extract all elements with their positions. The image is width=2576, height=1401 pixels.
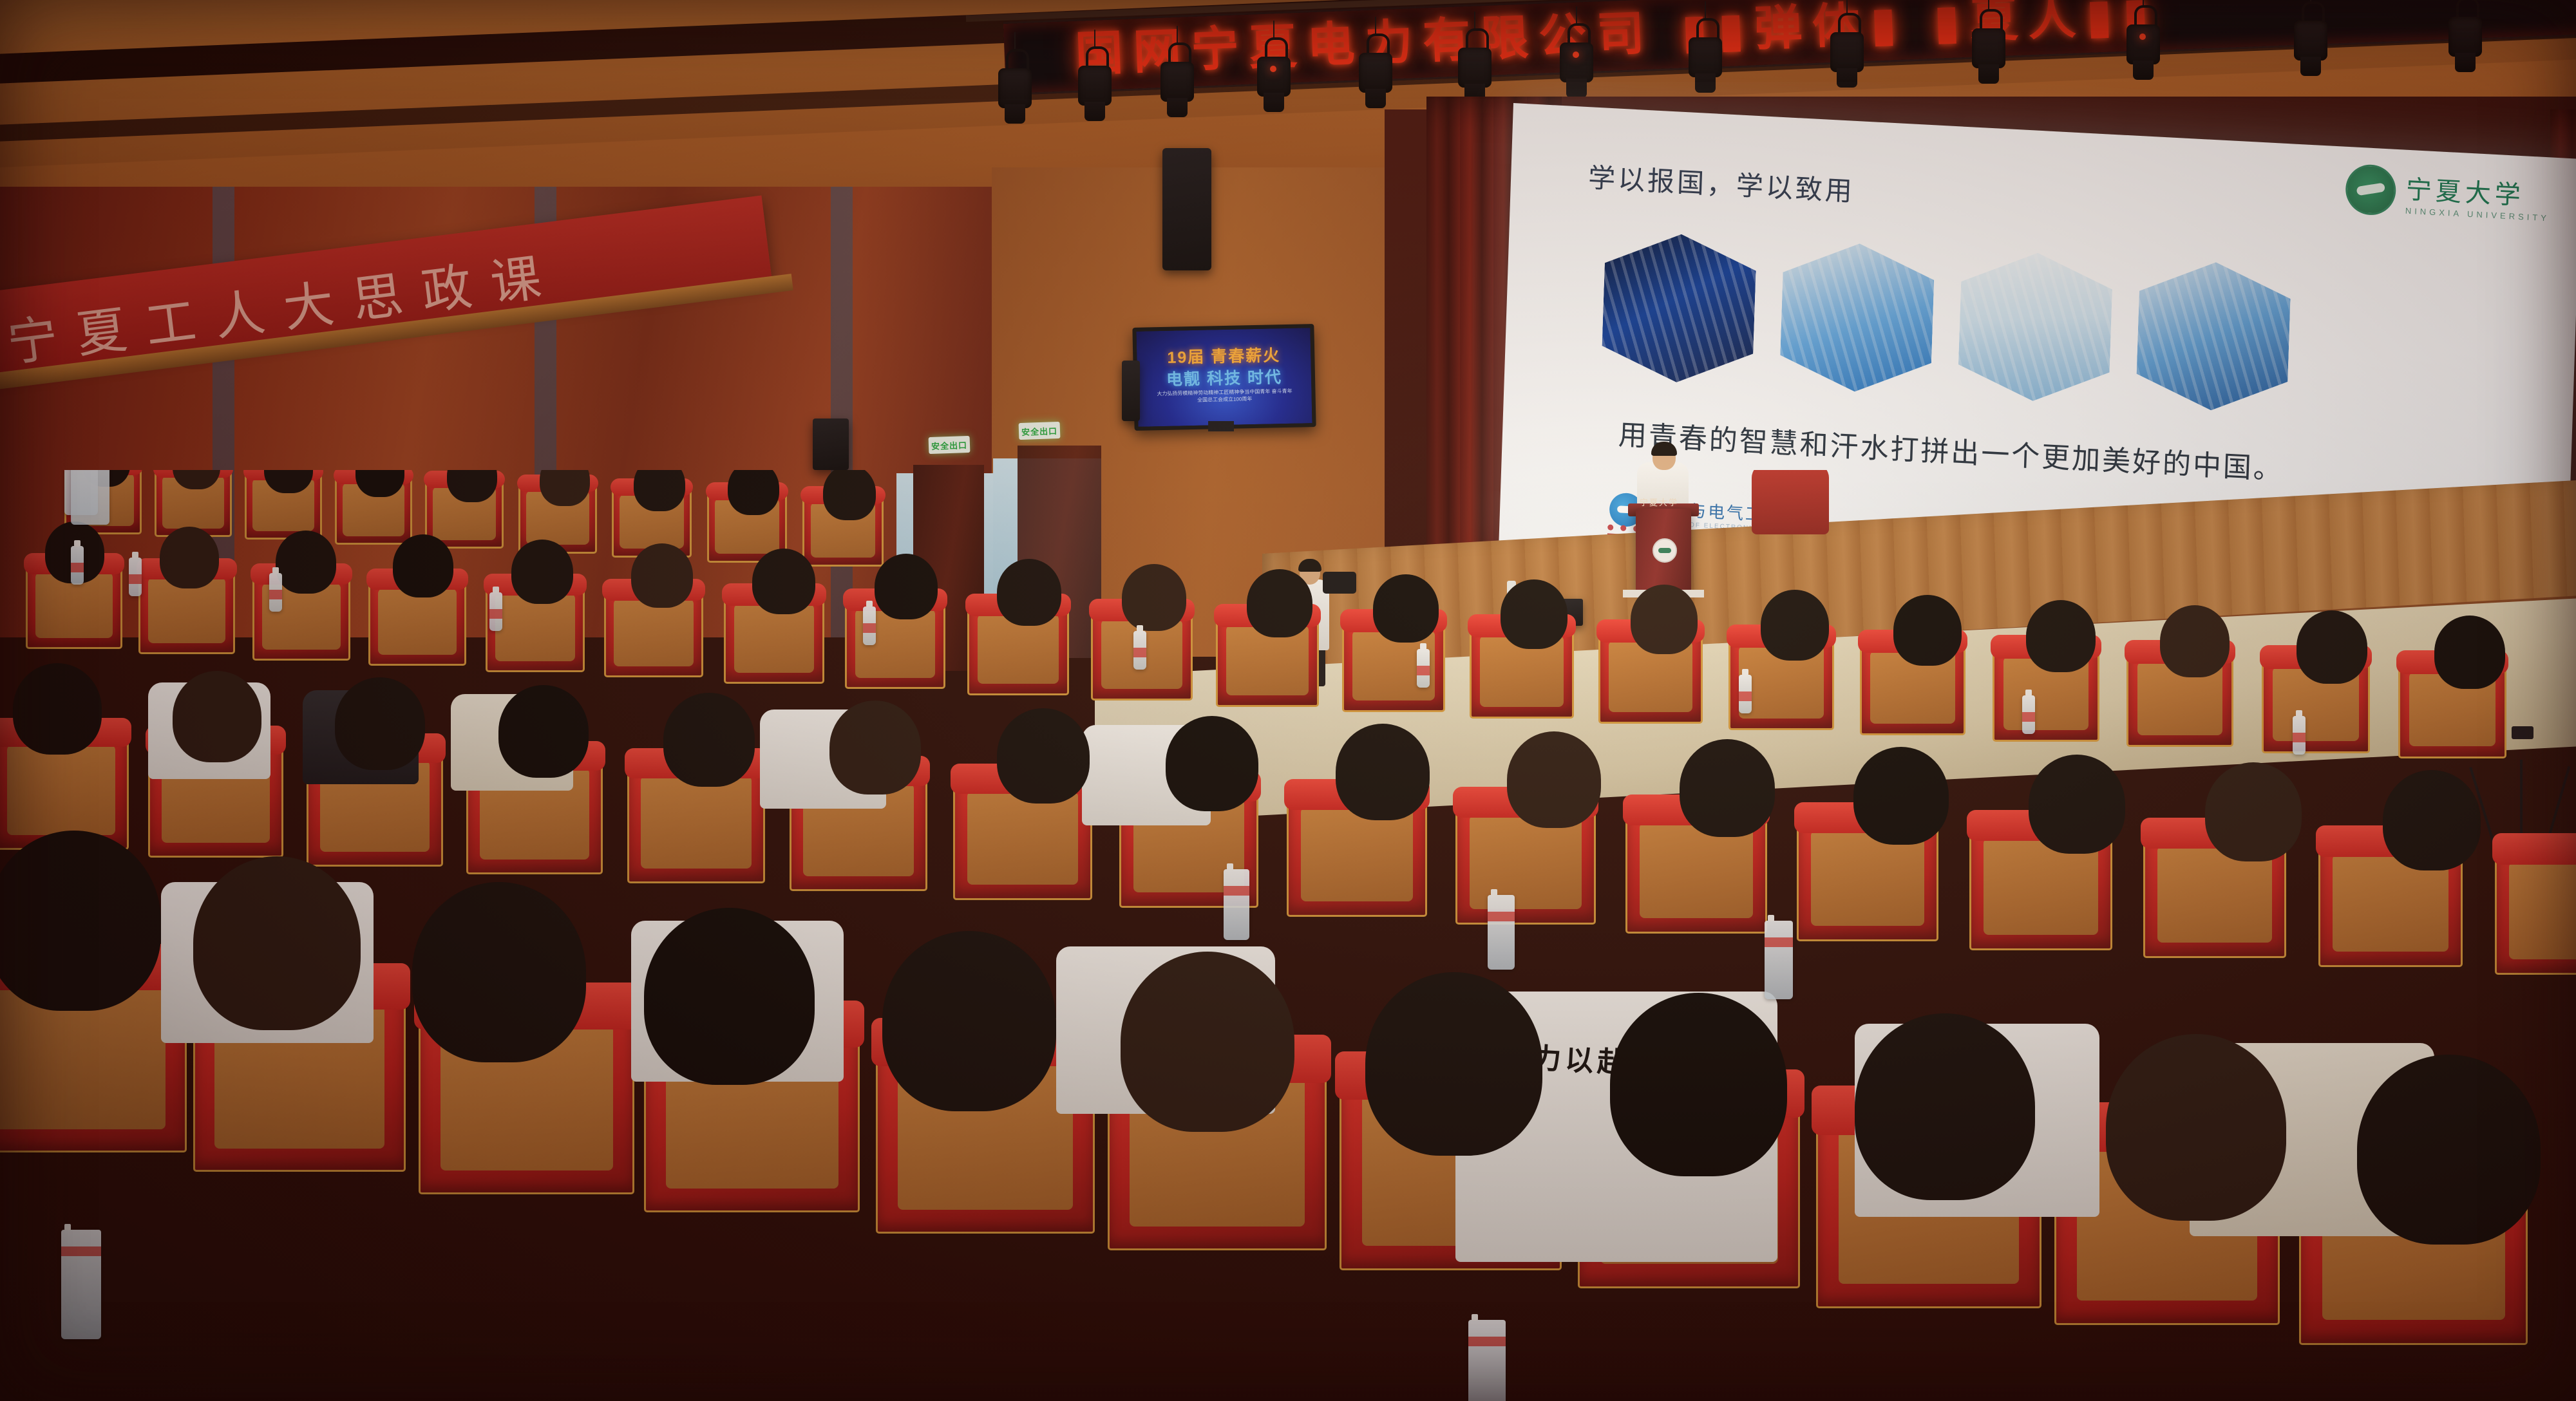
audience-head: [173, 671, 261, 762]
wall-monitor: 19届 青春薪火 电靓 科技 时代 大力弘扬劳模精神劳动精神工匠精神争当中国青年…: [1132, 324, 1316, 431]
stage-light-icon: [1687, 18, 1723, 95]
audience-head: [2026, 600, 2096, 672]
seat[interactable]: [2495, 843, 2576, 975]
ceiling-speaker-box: [1162, 148, 1211, 270]
water-bottle-foreground[interactable]: [1765, 921, 1793, 999]
audience-head-foreground: [193, 856, 361, 1030]
stage-light-icon: [1558, 23, 1595, 100]
audience-head: [2297, 610, 2367, 684]
hex-image-ice-ridge: [2136, 258, 2291, 414]
stage-light-icon: [1159, 42, 1195, 120]
audience-head-foreground: [1365, 972, 1542, 1156]
audience-head: [511, 540, 573, 604]
stage-light-icon: [2293, 1, 2329, 79]
stage-light-icon: [1829, 13, 1865, 90]
audience-head: [1680, 739, 1775, 837]
audience-head: [1373, 574, 1439, 643]
stage-light-icon: [2125, 5, 2161, 82]
audience-head: [997, 708, 1090, 804]
audience-head-foreground: [0, 831, 161, 1011]
audience-head: [823, 470, 876, 520]
water-bottle-foreground[interactable]: [71, 470, 109, 525]
audience-head: [829, 700, 921, 795]
audience-head-foreground: [644, 908, 815, 1085]
audience-head: [540, 470, 590, 506]
wall-speaker-left: [1122, 361, 1140, 421]
water-bottle[interactable]: [269, 573, 282, 612]
audience-head-foreground: [2106, 1034, 2286, 1221]
water-bottle-foreground[interactable]: [1468, 1320, 1506, 1401]
audience-head: [1122, 564, 1186, 631]
audience-head: [1893, 595, 1962, 666]
water-bottle[interactable]: [489, 592, 502, 631]
audience-head: [1853, 747, 1949, 845]
exit-sign-left: 安全出口: [929, 436, 971, 454]
stage-light-icon: [1358, 33, 1394, 111]
water-bottle[interactable]: [863, 606, 876, 645]
audience-seating: 全力以赴: [0, 470, 2576, 1401]
hex-image-snow-mountain: [1779, 240, 1935, 395]
wall-speaker-mid: [813, 418, 849, 470]
audience-head: [2434, 616, 2505, 689]
stage-light-icon: [1971, 9, 2007, 86]
water-bottle[interactable]: [2293, 716, 2306, 755]
audience-head: [728, 470, 779, 515]
hex-image-power-substation: [1601, 230, 1757, 386]
audience-torso: [1752, 470, 1829, 534]
exit-sign-left-text: 安全出口: [931, 438, 968, 452]
audience-head: [13, 663, 102, 755]
stage-light-icon: [1256, 37, 1292, 115]
water-bottle-foreground[interactable]: [1224, 869, 1249, 940]
wall-monitor-stand: [1208, 421, 1234, 431]
water-bottle[interactable]: [1133, 631, 1146, 670]
audience-head: [2205, 762, 2302, 861]
slide-image-row: [1601, 230, 2519, 426]
audience-head: [997, 559, 1061, 626]
wall-monitor-caption: 大力弘扬劳模精神劳动精神工匠精神争当中国青年 奋斗青年全国总工会成立100周年: [1154, 388, 1294, 405]
audience-head: [1507, 731, 1601, 828]
audience-head: [2029, 755, 2125, 854]
water-bottle-foreground[interactable]: [1488, 895, 1515, 970]
hex-image-glacier-peaks: [1957, 249, 2113, 405]
audience-head: [1631, 585, 1698, 654]
wall-monitor-screen: 19届 青春薪火 电靓 科技 时代 大力弘扬劳模精神劳动精神工匠精神争当中国青年…: [1136, 328, 1312, 427]
water-bottle-foreground[interactable]: [61, 1230, 101, 1339]
slide-title: 学以报国，学以致用: [1587, 156, 1855, 209]
exit-sign-right: 安全出口: [1019, 422, 1061, 440]
wall-monitor-line2: 电靓 科技 时代: [1137, 364, 1312, 391]
audience-head: [663, 693, 755, 787]
water-bottle[interactable]: [129, 558, 142, 596]
water-bottle[interactable]: [2022, 695, 2035, 734]
audience-head: [2160, 605, 2230, 677]
stage-light-icon: [1457, 28, 1493, 106]
audience-head-foreground: [1121, 952, 1294, 1132]
audience-head: [335, 677, 425, 770]
water-bottle[interactable]: [71, 546, 84, 585]
university-seal-icon: [2345, 164, 2396, 216]
audience-head-foreground: [412, 882, 586, 1062]
audience-head: [1166, 716, 1258, 811]
audience-head-foreground: [882, 931, 1056, 1111]
audience-head: [276, 531, 336, 594]
audience-head: [2383, 770, 2481, 870]
water-bottle[interactable]: [1417, 649, 1430, 688]
audience-head-foreground: [2357, 1055, 2541, 1245]
auditorium-scene: 宁夏工人大思政课 国网宁夏电力有限公司 ▮▮弹体▮ ▮夏人▮▮ 19届 青春薪火…: [0, 0, 2576, 1401]
audience-head: [1761, 590, 1829, 661]
audience-head: [752, 549, 815, 614]
university-logo: 宁夏大学 NINGXIA UNIVERSITY: [2345, 164, 2552, 225]
audience-head: [634, 470, 685, 511]
stage-light-icon: [2447, 0, 2483, 75]
audience-head: [1247, 569, 1312, 637]
audience-head: [498, 685, 589, 778]
audience-head: [631, 543, 693, 608]
stage-light-icon: [997, 49, 1033, 126]
audience-head: [160, 527, 219, 588]
stage-light-icon: [1077, 46, 1113, 124]
audience-head: [393, 534, 453, 597]
audience-head: [875, 554, 938, 619]
audience-head-foreground: [1855, 1013, 2035, 1200]
audience-head-foreground: [1610, 993, 1787, 1176]
audience-head: [1501, 579, 1567, 649]
exit-sign-right-text: 安全出口: [1021, 424, 1058, 438]
water-bottle[interactable]: [1739, 675, 1752, 713]
audience-head: [1336, 724, 1430, 820]
